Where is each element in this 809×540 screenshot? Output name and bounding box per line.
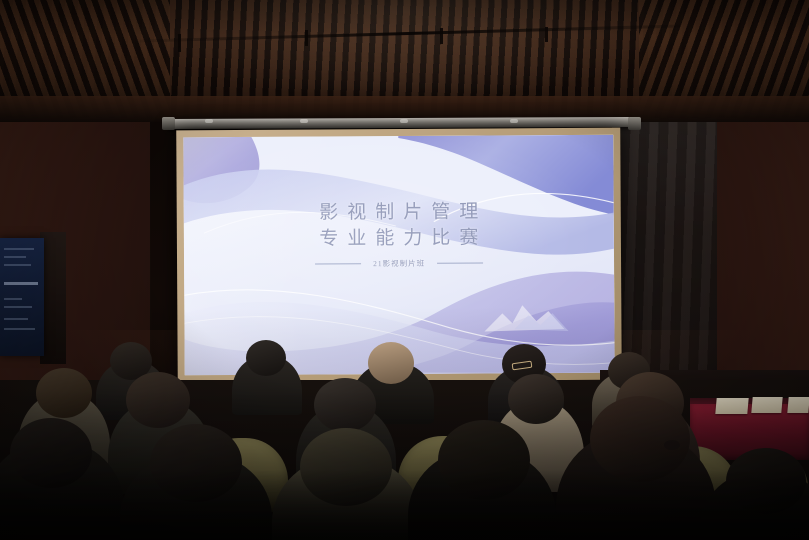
slide-wave-graphic — [183, 135, 614, 376]
roller-bracket-1 — [205, 119, 213, 123]
ceiling-hanger-4 — [545, 27, 548, 42]
ceiling-hanger-2 — [305, 30, 308, 46]
slide-title-block: 影视制片管理 专业能力比赛 — [184, 199, 614, 254]
auditorium-scene: 影视制片管理 专业能力比赛 21影视制片班 — [0, 0, 809, 540]
slide-title-line-1: 影视制片管理 — [184, 199, 614, 228]
left-wall-poster[interactable] — [0, 238, 44, 356]
projection-screen[interactable]: 影视制片管理 专业能力比赛 21影视制片班 — [183, 135, 614, 376]
judge-name-card-1 — [715, 398, 748, 414]
audience-head-back-1 — [246, 340, 286, 376]
ceiling-hanger-3 — [440, 28, 443, 44]
audience-head-mid-4 — [508, 374, 564, 424]
slide-artwork — [183, 135, 614, 376]
ceiling-hanger-1 — [178, 34, 181, 52]
subtitle-rule-right — [437, 262, 483, 264]
hair-tie-icon — [664, 440, 680, 450]
judge-name-card-3 — [787, 397, 809, 413]
roller-bracket-4 — [510, 119, 518, 123]
audience-head-back-2 — [368, 342, 414, 384]
foreground-shadow — [0, 470, 809, 540]
slide-subtitle: 21影视制片班 — [373, 258, 425, 269]
judge-name-card-2 — [751, 397, 782, 413]
subtitle-rule-left — [315, 263, 361, 265]
roller-cap-left — [162, 117, 175, 130]
roller-cap-right — [628, 117, 641, 130]
audience-head-mid-3 — [314, 378, 376, 432]
audience-head-mid-1 — [36, 368, 92, 418]
audience-head-mid-2 — [126, 372, 190, 428]
roller-bracket-3 — [400, 119, 408, 123]
roller-bracket-2 — [300, 119, 308, 123]
slide-title-line-2: 专业能力比赛 — [184, 225, 614, 254]
